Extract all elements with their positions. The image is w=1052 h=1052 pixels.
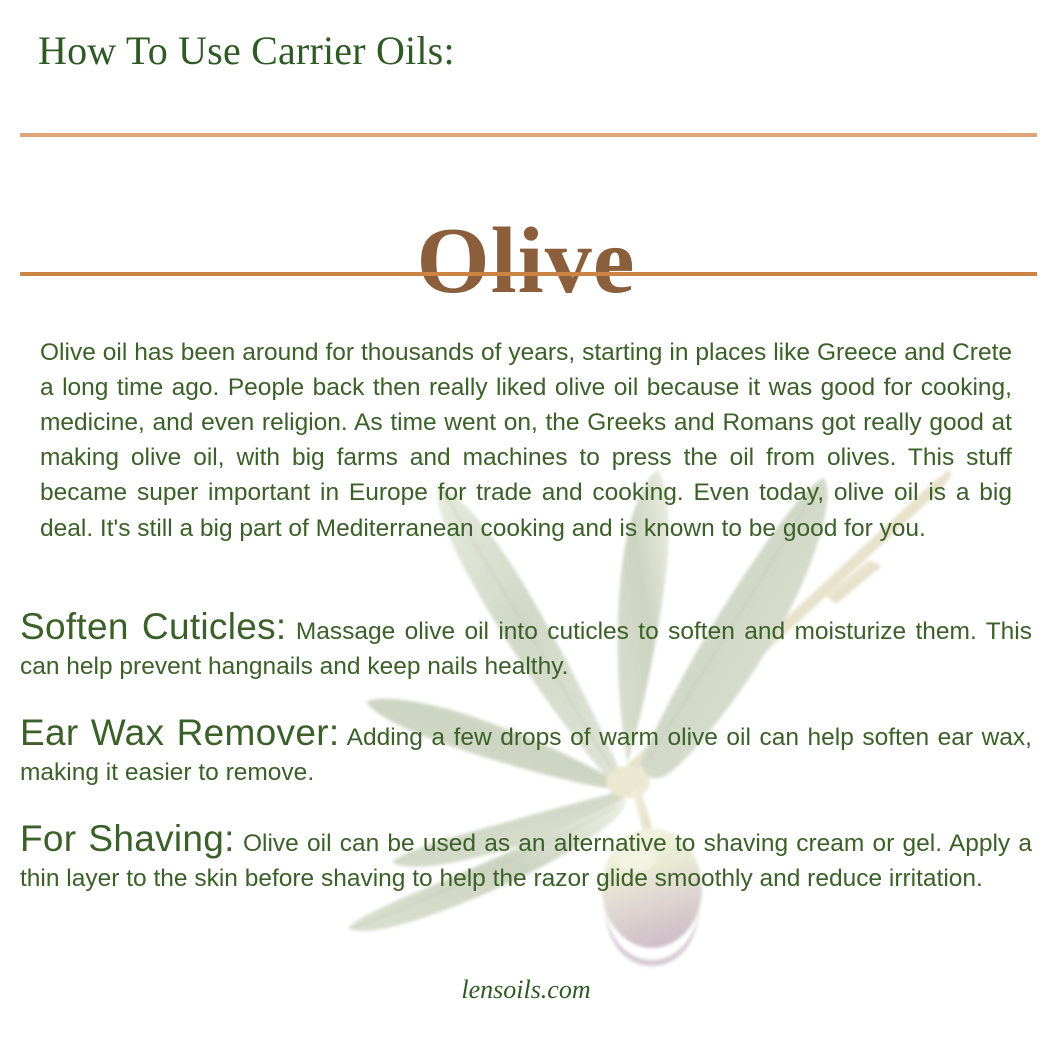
poster-page: How To Use Carrier Oils: Olive Olive oil… [0,0,1052,1052]
footer-site-name: lensoils.com [0,975,1052,1005]
page-kicker: How To Use Carrier Oils: [38,28,455,74]
tip-title: Ear Wax Remover: [20,712,339,753]
tip-title: Soften Cuticles: [20,606,287,647]
tip-title: For Shaving: [20,818,235,859]
intro-paragraph: Olive oil has been around for thousands … [40,335,1012,546]
divider-bottom [20,272,1037,276]
tips-list: Soften Cuticles: Massage olive oil into … [20,605,1032,896]
tip-item: Soften Cuticles: Massage olive oil into … [20,605,1032,684]
page-title: Olive [0,211,1052,313]
tip-item: For Shaving: Olive oil can be used as an… [20,817,1032,896]
tip-item: Ear Wax Remover: Adding a few drops of w… [20,711,1032,790]
divider-top [20,133,1037,137]
